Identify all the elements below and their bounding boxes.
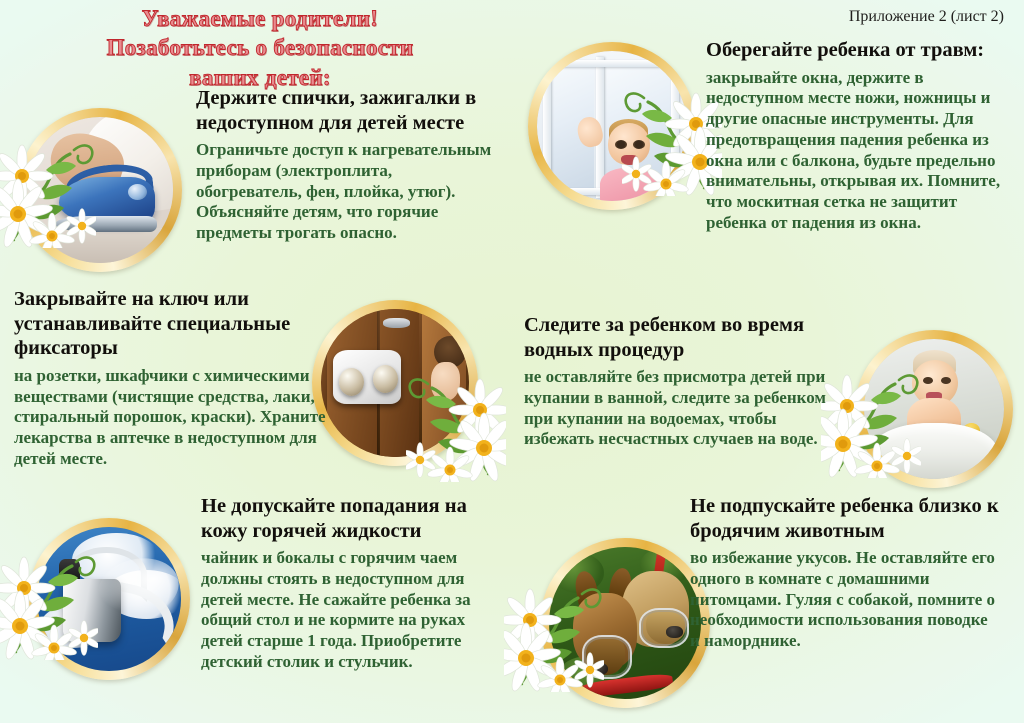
cabinet-latch-scene (321, 309, 469, 457)
section-hot-liquid: Не допускайте попадания на кожу горячей … (201, 494, 507, 673)
section-heading: Держите спички, зажигалки в недоступном … (196, 86, 496, 135)
section-heading: Оберегайте ребенка от травм: (706, 38, 1008, 63)
section-body: во избежание укусов. Не оставляйте его о… (690, 548, 1000, 652)
photo-disc (537, 51, 687, 201)
photo-dogs (540, 538, 710, 708)
bath-scene (864, 339, 1004, 479)
photo-disc (864, 339, 1004, 479)
section-body: закрывайте окна, держите в недоступном м… (706, 68, 1008, 234)
section-heading: Следите за ребенком во время водных проц… (524, 313, 830, 362)
section-matches: Держите спички, зажигалки в недоступном … (196, 86, 496, 244)
section-body: чайник и бокалы с горячим чаем должны ст… (201, 548, 507, 672)
page-title-line-2: Позаботьтесь о безопасности (72, 33, 448, 62)
photo-bath (855, 330, 1013, 488)
photo-disc (27, 117, 173, 263)
photo-disc (37, 527, 181, 671)
photo-iron (18, 108, 182, 272)
photo-disc (549, 547, 701, 699)
section-injuries: Оберегайте ребенка от травм: закрывайте … (706, 38, 1008, 233)
section-heading: Не допускайте попадания на кожу горячей … (201, 494, 507, 543)
appendix-label: Приложение 2 (лист 2) (849, 8, 1004, 26)
section-locks: Закрывайте на ключ или устанавливайте сп… (14, 287, 326, 469)
window-scene (537, 51, 687, 201)
section-heading: Не подпускайте ребенка близко к бродячим… (690, 494, 1000, 543)
photo-window (528, 42, 696, 210)
section-body: на розетки, шкафчики с химическими вещес… (14, 366, 326, 470)
photo-disc (321, 309, 469, 457)
photo-kettle (28, 518, 190, 680)
section-animals: Не подпускайте ребенка близко к бродячим… (690, 494, 1000, 652)
kettle-scene (37, 527, 181, 671)
safety-poster: Приложение 2 (лист 2) Уважаемые родители… (0, 0, 1024, 723)
section-body: Ограничьте доступ к нагревательным прибо… (196, 140, 496, 244)
page-title-line-1: Уважаемые родители! (72, 4, 448, 33)
iron-scene (27, 117, 173, 263)
dogs-scene (549, 547, 701, 699)
photo-cabinet-latch (312, 300, 478, 466)
section-heading: Закрывайте на ключ или устанавливайте сп… (14, 287, 326, 361)
section-water: Следите за ребенком во время водных проц… (524, 313, 830, 450)
section-body: не оставляйте без присмотра детей при ку… (524, 367, 830, 450)
page-title: Уважаемые родители! Позаботьтесь о безоп… (72, 4, 448, 92)
